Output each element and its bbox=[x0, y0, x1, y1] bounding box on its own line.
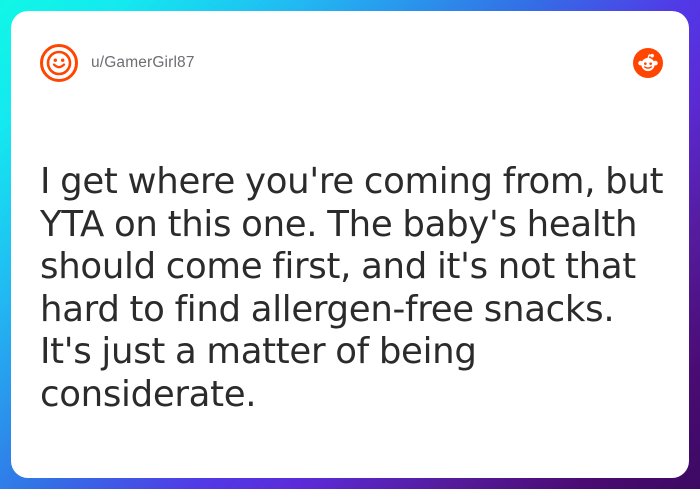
quote-card-canvas: u/GamerGirl87 I get where you' bbox=[0, 0, 700, 489]
card-header: u/GamerGirl87 bbox=[40, 41, 663, 85]
quote-card: u/GamerGirl87 I get where you' bbox=[11, 11, 689, 478]
quote-text: I get where you're coming from, but YTA … bbox=[40, 161, 667, 416]
reddit-snoo-icon bbox=[637, 52, 659, 74]
smiley-face-icon bbox=[46, 50, 72, 76]
username-label: u/GamerGirl87 bbox=[91, 54, 195, 72]
reddit-logo[interactable] bbox=[633, 48, 663, 78]
avatar bbox=[40, 44, 78, 82]
